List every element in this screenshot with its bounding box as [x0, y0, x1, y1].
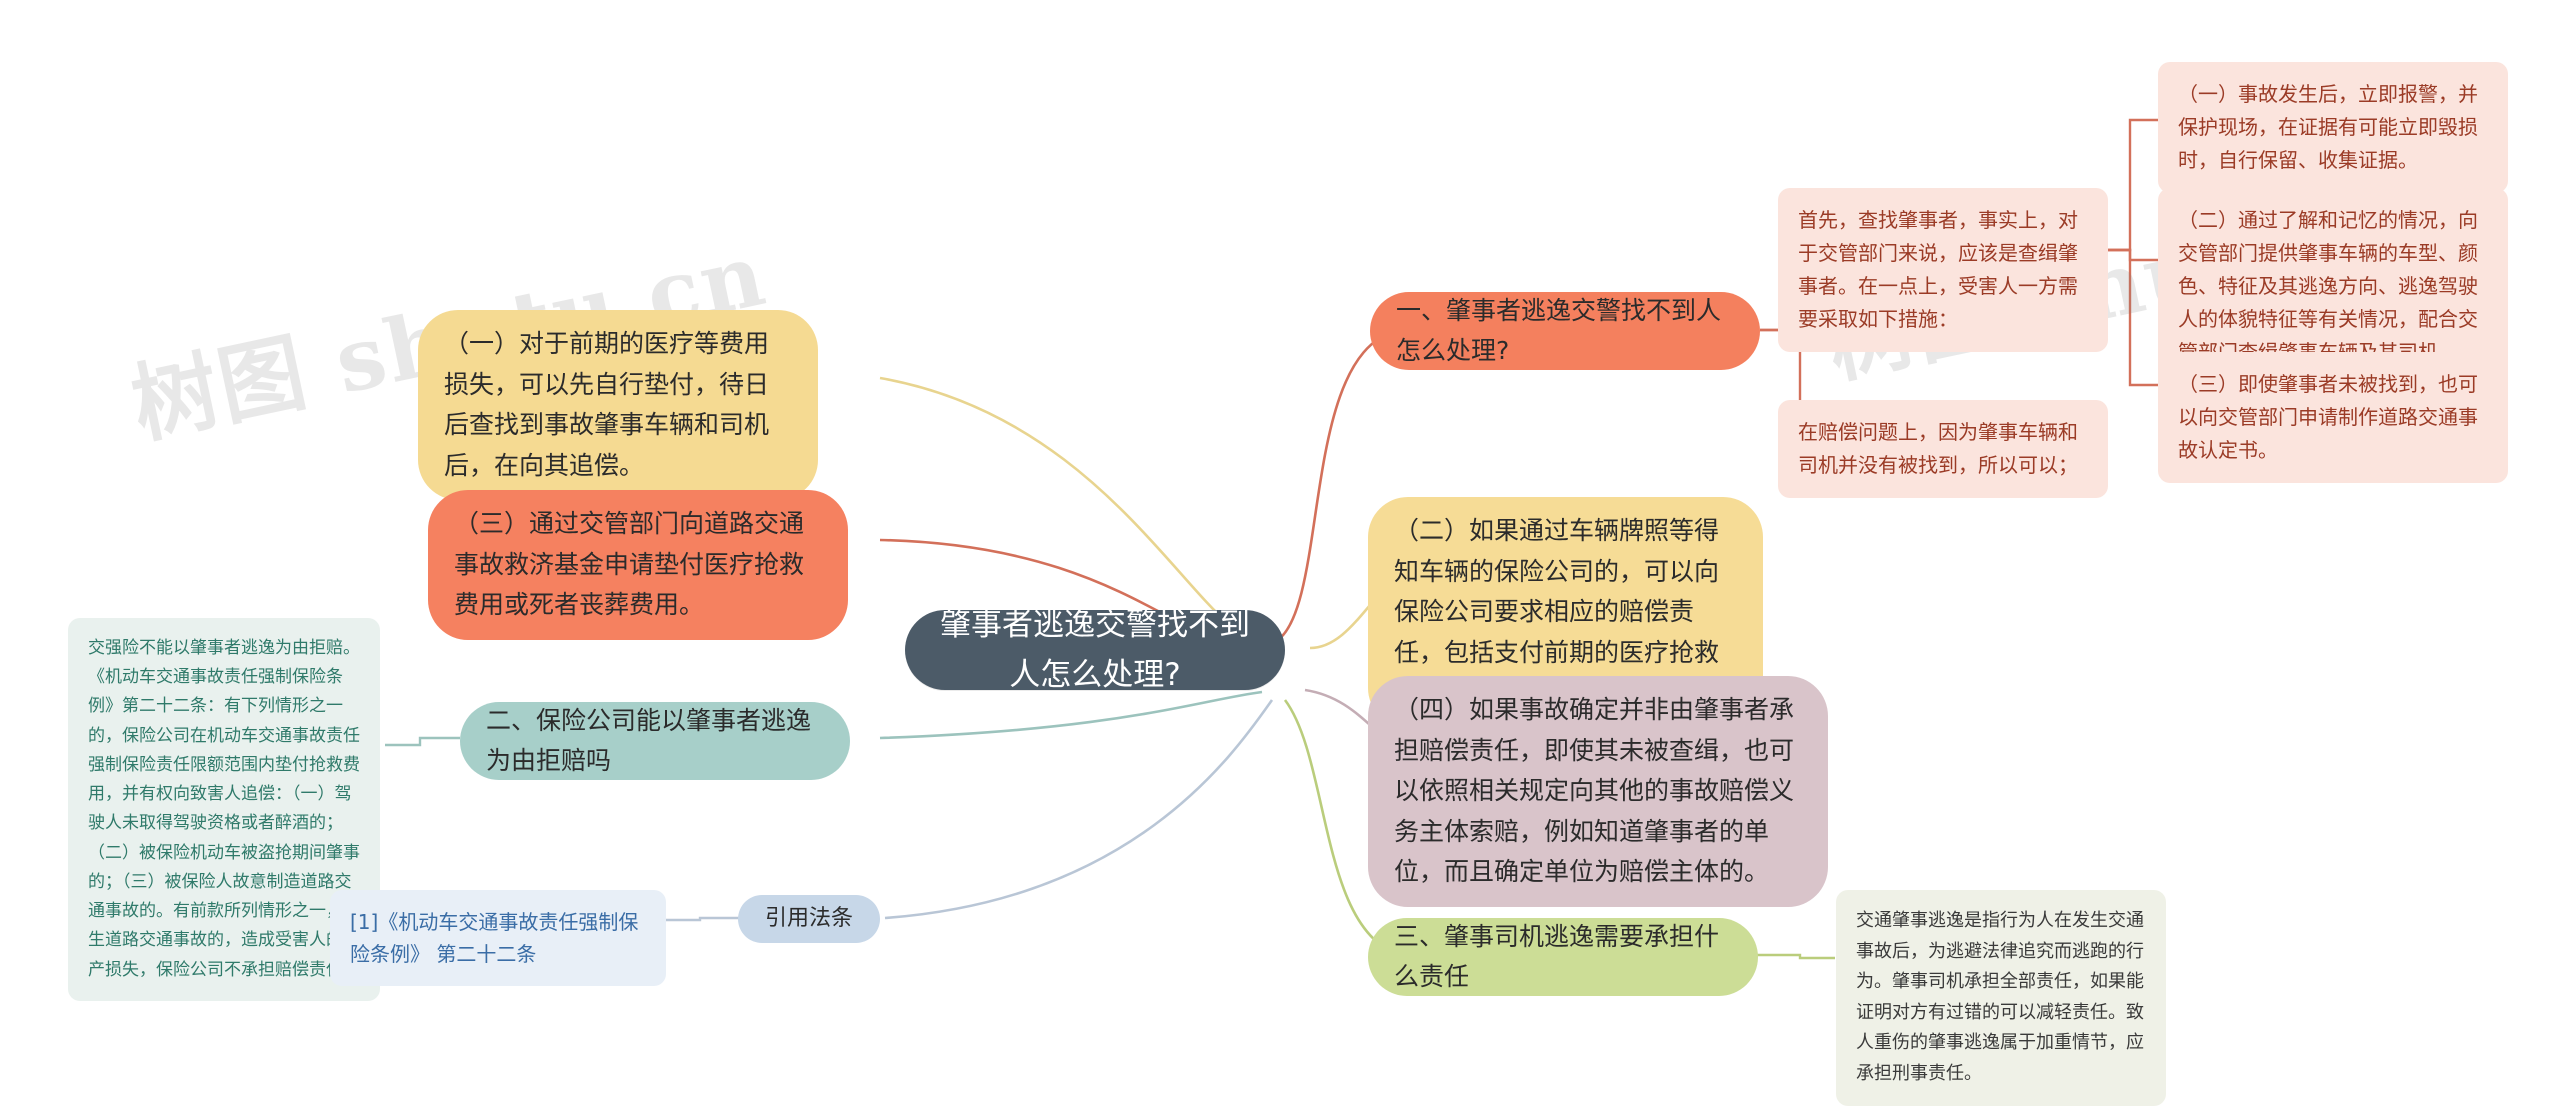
mindmap-canvas: 树图 shutu.cn 树图 shutu.cn 肇事者逃逸交警找不到人怎么处理?…: [0, 0, 2560, 1091]
center-node[interactable]: 肇事者逃逸交警找不到人怎么处理?: [905, 610, 1285, 690]
branch-node-left-2[interactable]: （三）通过交管部门向道路交通事故救济基金申请垫付医疗抢救费用或死者丧葬费用。: [428, 490, 848, 640]
branch-node-left-3[interactable]: 二、保险公司能以肇事者逃逸为由拒赔吗: [460, 702, 850, 780]
leaf-panel-right-4-child-1[interactable]: 交通肇事逃逸是指行为人在发生交通事故后，为逃避法律追究而逃跑的行为。肇事司机承担…: [1836, 890, 2166, 1106]
branch-node-right-1[interactable]: 一、肇事者逃逸交警找不到人怎么处理?: [1370, 292, 1760, 370]
branch-node-left-4[interactable]: 引用法条: [738, 895, 880, 943]
branch-node-right-4[interactable]: 三、肇事司机逃逸需要承担什么责任: [1368, 918, 1758, 996]
leaf-panel-right-1-child-1[interactable]: 首先，查找肇事者，事实上，对于交管部门来说，应该是查缉肇事者。在一点上，受害人一…: [1778, 188, 2108, 352]
branch-node-right-3[interactable]: （四）如果事故确定并非由肇事者承担赔偿责任，即使其未被查缉，也可以依照相关规定向…: [1368, 676, 1828, 907]
leaf-panel-right-1-grandchild-1[interactable]: （一）事故发生后，立即报警，并保护现场，在证据有可能立即毁损时，自行保留、收集证…: [2158, 62, 2508, 193]
leaf-panel-left-4-child-1[interactable]: [1]《机动车交通事故责任强制保险条例》 第二十二条: [330, 890, 666, 986]
leaf-panel-right-1-grandchild-3[interactable]: （三）即使肇事者未被找到，也可以向交管部门申请制作道路交通事故认定书。: [2158, 352, 2508, 483]
branch-node-left-1[interactable]: （一）对于前期的医疗等费用损失，可以先自行垫付，待日后查找到事故肇事车辆和司机后…: [418, 310, 818, 500]
leaf-panel-right-1-child-2[interactable]: 在赔偿问题上，因为肇事车辆和司机并没有被找到，所以可以；: [1778, 400, 2108, 498]
